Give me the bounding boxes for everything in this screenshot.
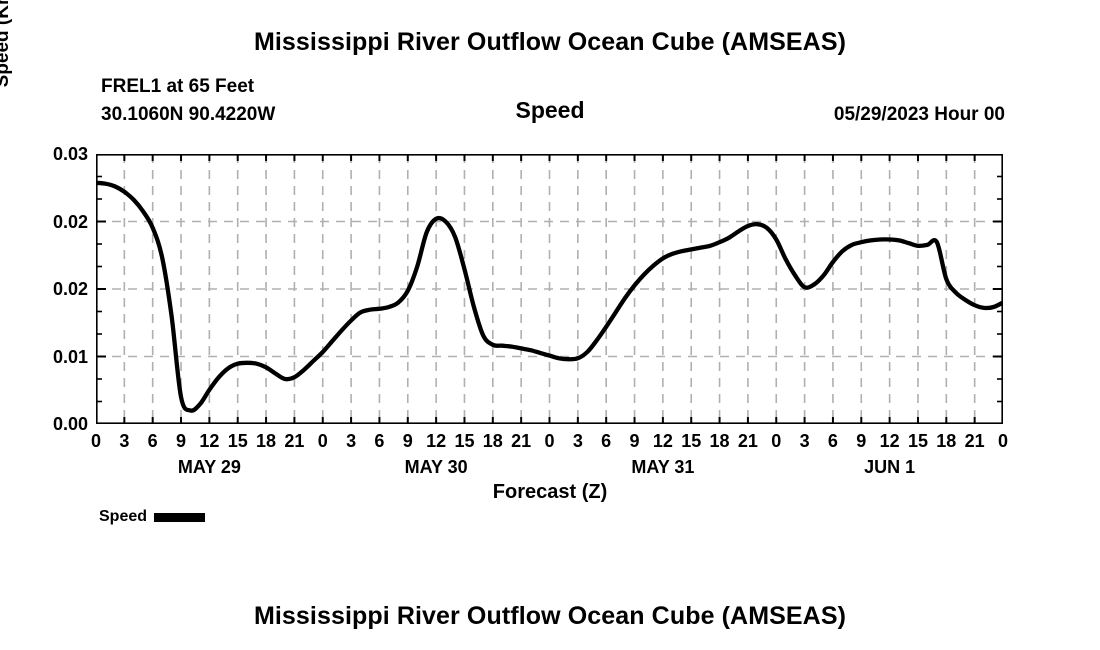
legend-swatch-speed — [154, 513, 205, 522]
x-tick-label: 9 — [176, 432, 186, 450]
x-day-label: MAY 30 — [405, 458, 468, 476]
x-tick-label: 21 — [511, 432, 531, 450]
model-run-label: 05/29/2023 Hour 00 — [834, 104, 1005, 126]
x-tick-label: 6 — [828, 432, 838, 450]
x-axis-tick-labels: 0369121518210369121518210369121518210369… — [0, 432, 1100, 456]
x-tick-label: 0 — [544, 432, 554, 450]
x-tick-label: 15 — [681, 432, 701, 450]
x-tick-label: 21 — [738, 432, 758, 450]
x-tick-label: 15 — [908, 432, 928, 450]
station-depth-label: FREL1 at 65 Feet — [101, 76, 254, 98]
x-tick-label: 9 — [403, 432, 413, 450]
x-tick-label: 0 — [771, 432, 781, 450]
x-tick-label: 18 — [710, 432, 730, 450]
legend-label-speed: Speed — [99, 509, 147, 525]
x-tick-label: 6 — [601, 432, 611, 450]
x-day-label: MAY 29 — [178, 458, 241, 476]
y-axis-tick-labels: 0.000.010.020.020.03 — [0, 154, 88, 424]
legend: Speed — [99, 509, 205, 525]
x-day-label: JUN 1 — [864, 458, 915, 476]
x-tick-label: 18 — [483, 432, 503, 450]
x-axis-title: Forecast (Z) — [0, 481, 1100, 504]
x-tick-label: 12 — [880, 432, 900, 450]
y-tick-label: 0.02 — [53, 280, 88, 298]
x-tick-label: 3 — [573, 432, 583, 450]
x-tick-label: 15 — [454, 432, 474, 450]
grid-lines — [96, 154, 1003, 424]
chart-title-bottom: Mississippi River Outflow Ocean Cube (AM… — [0, 602, 1100, 631]
x-tick-label: 3 — [119, 432, 129, 450]
x-tick-label: 21 — [965, 432, 985, 450]
x-tick-label: 0 — [91, 432, 101, 450]
series-line-speed — [96, 183, 1003, 411]
x-tick-label: 18 — [256, 432, 276, 450]
x-tick-label: 6 — [374, 432, 384, 450]
x-tick-label: 9 — [856, 432, 866, 450]
x-tick-label: 18 — [936, 432, 956, 450]
y-tick-label: 0.00 — [53, 415, 88, 433]
y-axis-title: Speed (Knots) — [0, 0, 14, 158]
x-tick-label: 9 — [630, 432, 640, 450]
x-tick-label: 15 — [228, 432, 248, 450]
x-tick-label: 0 — [318, 432, 328, 450]
x-tick-label: 0 — [998, 432, 1008, 450]
y-tick-label: 0.03 — [53, 145, 88, 163]
chart-svg — [96, 154, 1003, 424]
y-tick-label: 0.01 — [53, 348, 88, 366]
y-tick-label: 0.02 — [53, 213, 88, 231]
x-tick-label: 12 — [199, 432, 219, 450]
chart-page: Mississippi River Outflow Ocean Cube (AM… — [0, 0, 1100, 650]
x-tick-label: 3 — [800, 432, 810, 450]
x-day-label: MAY 31 — [631, 458, 694, 476]
x-tick-label: 12 — [653, 432, 673, 450]
x-tick-label: 3 — [346, 432, 356, 450]
x-tick-label: 6 — [148, 432, 158, 450]
plot-area — [96, 154, 1003, 424]
x-tick-label: 21 — [284, 432, 304, 450]
x-tick-label: 12 — [426, 432, 446, 450]
chart-title-top: Mississippi River Outflow Ocean Cube (AM… — [0, 28, 1100, 57]
